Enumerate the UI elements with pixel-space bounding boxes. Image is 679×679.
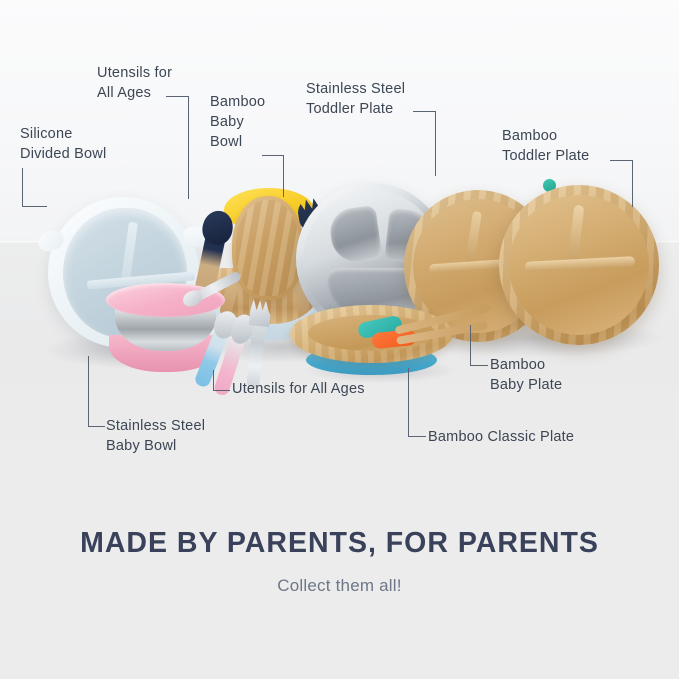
callout-label-bamboo-classic-plate: Bamboo Classic Plate [428,427,574,447]
silicone-divider-vertical [121,222,138,281]
callout-label-bamboo-toddler-plate: Bamboo Toddler Plate [502,126,589,166]
steel-fork [246,314,267,389]
bamboo-bowl-lid [232,196,304,300]
callout-label-bamboo-baby-plate: Bamboo Baby Plate [490,355,562,395]
steel-plate-well-1 [327,205,382,265]
callout-label-stainless-toddler-plate: Stainless Steel Toddler Plate [306,79,405,119]
callout-label-bamboo-baby-bowl: Bamboo Baby Bowl [210,92,265,152]
product-bamboo-toddler-plate [499,185,659,345]
infographic-canvas: Silicone Divided Bowl Utensils for All A… [0,0,679,679]
callout-label-utensils-top: Utensils for All Ages [97,63,172,103]
footer-headline: MADE BY PARENTS, FOR PARENTS [0,527,679,560]
bamboo-toddler-divider-horizontal [525,256,635,272]
product-photo-scene: Silicone Divided Bowl Utensils for All A… [0,0,679,482]
bamboo-toddler-divider-vertical [568,205,585,262]
callout-label-silicone-divided-bowl: Silicone Divided Bowl [20,124,106,164]
callout-label-stainless-baby-bowl: Stainless Steel Baby Bowl [106,416,205,456]
footer-subline: Collect them all! [0,576,679,596]
product-bamboo-classic-plate [290,305,453,379]
bamboo-baby-divider-vertical [465,211,482,264]
footer-block: MADE BY PARENTS, FOR PARENTS Collect the… [0,482,679,679]
callout-label-utensils-bottom: Utensils for All Ages [232,379,365,399]
bamboo-toddler-plate-face [509,195,649,335]
